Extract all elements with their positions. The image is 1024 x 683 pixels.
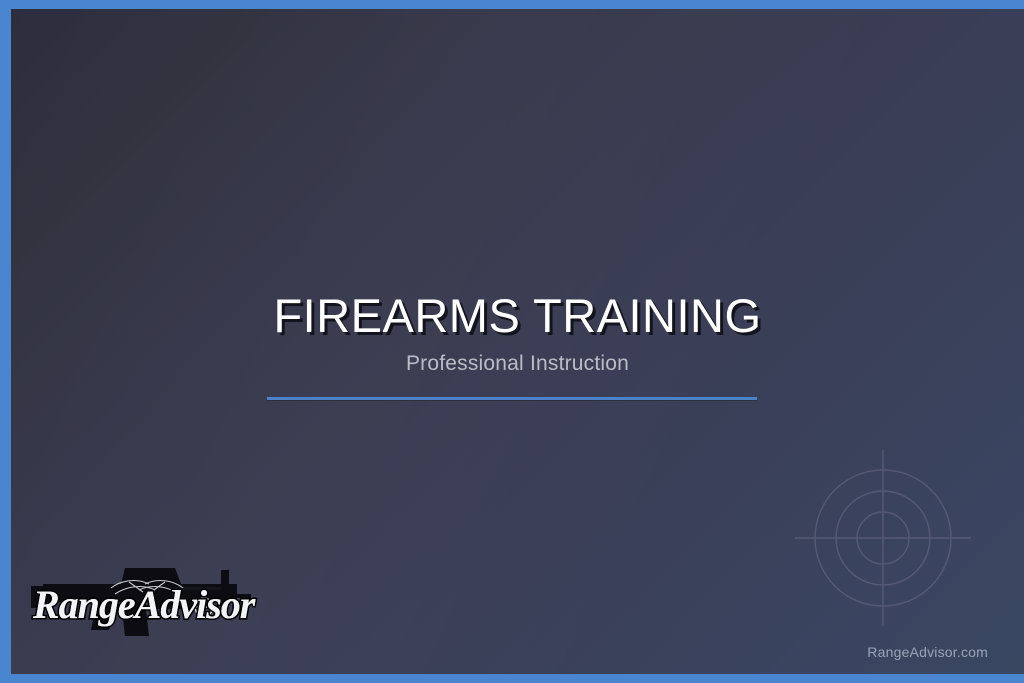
title-block: FIREARMS TRAINING Professional Instructi… bbox=[11, 291, 1024, 376]
brand-logo: RangeAdvisor RangeAdvisor bbox=[25, 554, 271, 646]
frame-accent-bar-bottom bbox=[0, 674, 1024, 683]
page-subtitle: Professional Instruction bbox=[11, 352, 1024, 376]
footer-url-text: RangeAdvisor.com bbox=[867, 644, 988, 660]
frame-accent-bar-left bbox=[2, 0, 11, 683]
slide-canvas: FIREARMS TRAINING Professional Instructi… bbox=[11, 9, 1024, 674]
accent-rule-divider bbox=[267, 397, 757, 400]
frame-accent-bar-top bbox=[0, 0, 1024, 9]
svg-text:RangeAdvisor: RangeAdvisor bbox=[32, 582, 256, 627]
target-crosshair-icon bbox=[786, 441, 981, 636]
presentation-slide: FIREARMS TRAINING Professional Instructi… bbox=[0, 0, 1024, 683]
page-title: FIREARMS TRAINING bbox=[11, 291, 1024, 340]
